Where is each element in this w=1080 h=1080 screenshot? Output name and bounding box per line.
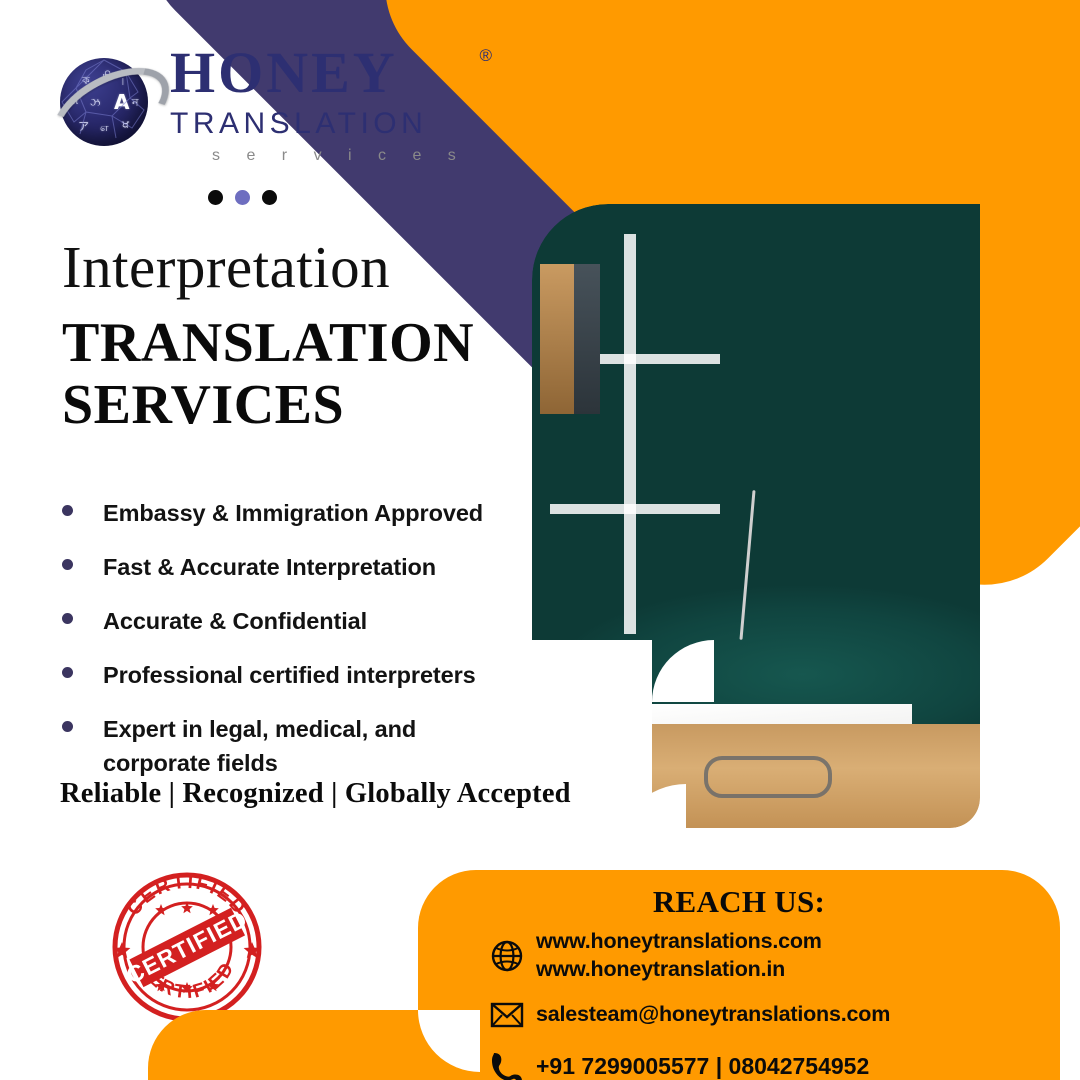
photo-book-left [540, 264, 574, 414]
contact-row-email[interactable]: salesteam@honeytranslations.com [490, 995, 1050, 1035]
contact-website-values: www.honeytranslations.com www.honeytrans… [536, 928, 822, 983]
photo-eyeglasses [704, 756, 832, 798]
headline-script-line: Interpretation [62, 238, 532, 297]
dot-indicator-1 [208, 190, 223, 205]
bullet-icon [62, 505, 73, 516]
dot-indicator-2 [235, 190, 250, 205]
tagline: Reliable | Recognized | Globally Accepte… [60, 778, 571, 810]
list-item: Fast & Accurate Interpretation [56, 550, 536, 584]
decorative-dot-row [208, 190, 277, 205]
brand-name-tertiary: s e r v i c e s [170, 147, 470, 165]
contact-website-2[interactable]: www.honeytranslation.in [536, 956, 822, 984]
phone-icon [490, 1047, 536, 1080]
headline-bold-line-1: TRANSLATION [62, 311, 532, 377]
photo-headset-cable [739, 490, 755, 640]
envelope-icon [490, 995, 536, 1035]
bullet-icon [62, 667, 73, 678]
list-item: Embassy & Immigration Approved [56, 496, 536, 530]
brand-logo: ক நி ৷ શ ઝ A ন ア எ ਖ [52, 44, 472, 174]
contact-phone-value[interactable]: +91 7299005577 | 08042754952 [536, 1052, 869, 1080]
bullet-icon [62, 721, 73, 732]
list-item: Professional certified interpreters [56, 658, 536, 692]
contact-panel-title: REACH US: [418, 884, 1060, 920]
registered-trademark-icon: ® [479, 46, 492, 66]
list-item-label: Accurate & Confidential [103, 604, 367, 638]
bullet-icon [62, 613, 73, 624]
list-item: Accurate & Confidential [56, 604, 536, 638]
list-item-label: Fast & Accurate Interpretation [103, 550, 436, 584]
headline-bold-line-2: SERVICES [62, 373, 532, 439]
contact-email-value[interactable]: salesteam@honeytranslations.com [536, 1001, 890, 1029]
list-item-label: Expert in legal, medical, and corporate … [103, 712, 463, 780]
page-title: Interpretation TRANSLATION SERVICES [62, 238, 532, 438]
brand-name-secondary: TRANSLATION [170, 107, 470, 141]
feature-list: Embassy & Immigration Approved Fast & Ac… [56, 496, 536, 800]
photo-book-right [574, 264, 600, 414]
contact-website-1[interactable]: www.honeytranslations.com [536, 928, 822, 956]
list-item: Expert in legal, medical, and corporate … [56, 712, 536, 780]
contact-row-phone[interactable]: +91 7299005577 | 08042754952 [490, 1047, 1050, 1080]
contact-row-website[interactable]: www.honeytranslations.com www.honeytrans… [490, 928, 1050, 983]
dot-indicator-3 [262, 190, 277, 205]
photo-shelf-vertical [624, 234, 636, 634]
photo-shelf-lower [550, 504, 720, 514]
certified-stamp-icon: CERTIFIED CERTIFIED CERTIFIED [108, 868, 266, 1026]
list-item-label: Embassy & Immigration Approved [103, 496, 483, 530]
globe-icon: ক நி ৷ શ ઝ A ন ア எ ਖ [52, 50, 156, 154]
contact-list: www.honeytranslations.com www.honeytrans… [490, 928, 1050, 1080]
brand-name-primary: HONEY [170, 44, 398, 102]
bullet-icon [62, 559, 73, 570]
brand-wordmark: HONEY® TRANSLATION s e r v i c e s [170, 44, 470, 165]
poster-canvas: ক நி ৷ શ ઝ A ন ア எ ਖ [0, 0, 1080, 1080]
globe-icon [490, 936, 536, 976]
list-item-label: Professional certified interpreters [103, 658, 476, 692]
